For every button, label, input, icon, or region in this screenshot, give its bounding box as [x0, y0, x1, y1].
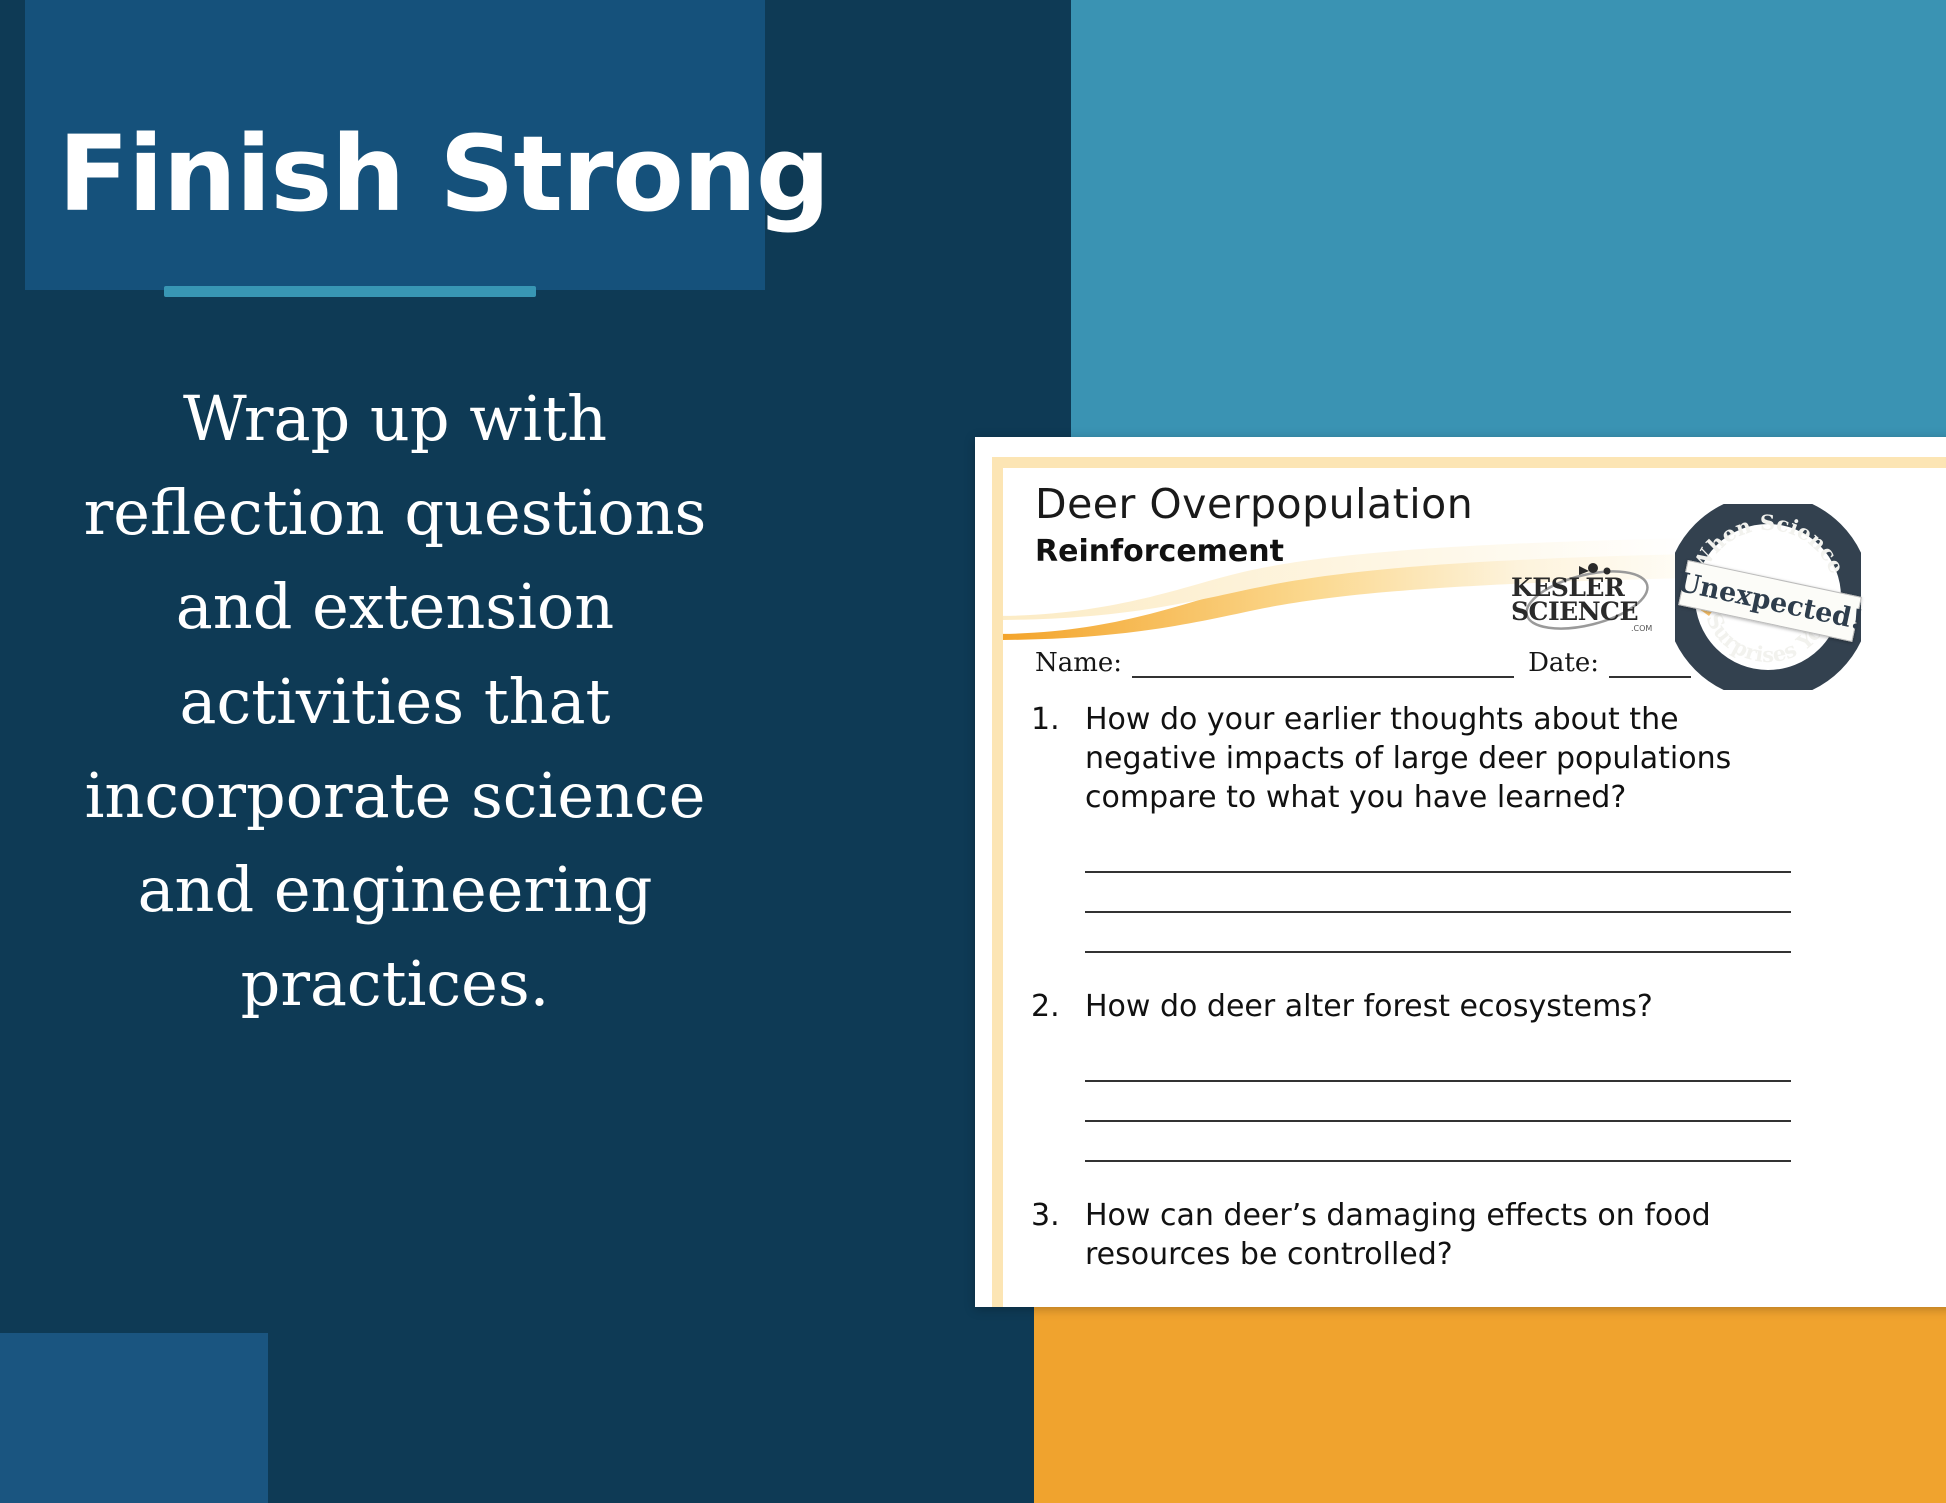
question-spacer — [1031, 961, 1946, 987]
blue-bottom-left-block — [0, 1333, 268, 1503]
worksheet-questions-list: 1. How do your earlier thoughts about th… — [1031, 700, 1946, 1282]
worksheet-title: Deer Overpopulation — [1035, 480, 1473, 528]
answer-line[interactable] — [1085, 913, 1791, 953]
body-paragraph: Wrap up with reflection questions and ex… — [78, 372, 712, 1032]
question-block: 3. How can deer’s damaging effects on fo… — [1031, 1196, 1946, 1274]
kesler-logo-wordmark: KESLER SCIENCE — [1511, 576, 1661, 624]
date-label: Date: — [1528, 648, 1599, 678]
date-input-rule[interactable] — [1609, 654, 1691, 678]
answer-line[interactable] — [1085, 1082, 1791, 1122]
kesler-logo-line2: SCIENCE — [1511, 600, 1661, 624]
question-number: 3. — [1031, 1196, 1085, 1233]
answer-lines[interactable] — [1085, 833, 1791, 953]
question-block: 1. How do your earlier thoughts about th… — [1031, 700, 1946, 953]
question-block: 2. How do deer alter forest ecosystems? — [1031, 987, 1946, 1162]
name-input-rule[interactable] — [1132, 654, 1514, 678]
name-label: Name: — [1035, 648, 1122, 678]
answer-line[interactable] — [1085, 1122, 1791, 1162]
answer-line[interactable] — [1085, 873, 1791, 913]
worksheet-preview-card[interactable]: Deer Overpopulation Reinforcement KESLER — [975, 437, 1946, 1307]
worksheet-subtitle: Reinforcement — [1035, 534, 1284, 569]
question-text: How do your earlier thoughts about the n… — [1085, 700, 1785, 817]
worksheet-header: Deer Overpopulation Reinforcement KESLER — [1003, 468, 1946, 628]
kesler-logo-dotcom: .COM — [1631, 624, 1652, 633]
worksheet-page: Deer Overpopulation Reinforcement KESLER — [1003, 468, 1946, 1307]
question-number: 1. — [1031, 700, 1085, 737]
question-text: How do deer alter forest ecosystems? — [1085, 987, 1653, 1026]
kesler-science-logo: KESLER SCIENCE .COM — [1511, 568, 1661, 638]
orange-bottom-block — [1034, 1307, 1946, 1503]
answer-lines[interactable] — [1085, 1042, 1791, 1162]
question-spacer — [1031, 1170, 1946, 1196]
page-title: Finish Strong — [58, 122, 829, 226]
title-underline-rule — [164, 286, 536, 297]
answer-line[interactable] — [1085, 1042, 1791, 1082]
worksheet-page-border: Deer Overpopulation Reinforcement KESLER — [992, 457, 1946, 1307]
worksheet-name-date-row: Name: Date: — [1035, 648, 1835, 678]
question-number: 2. — [1031, 987, 1085, 1024]
slide-canvas: Finish Strong Wrap up with reflection qu… — [0, 0, 1946, 1503]
question-text: How can deer’s damaging effects on food … — [1085, 1196, 1785, 1274]
answer-line[interactable] — [1085, 833, 1791, 873]
